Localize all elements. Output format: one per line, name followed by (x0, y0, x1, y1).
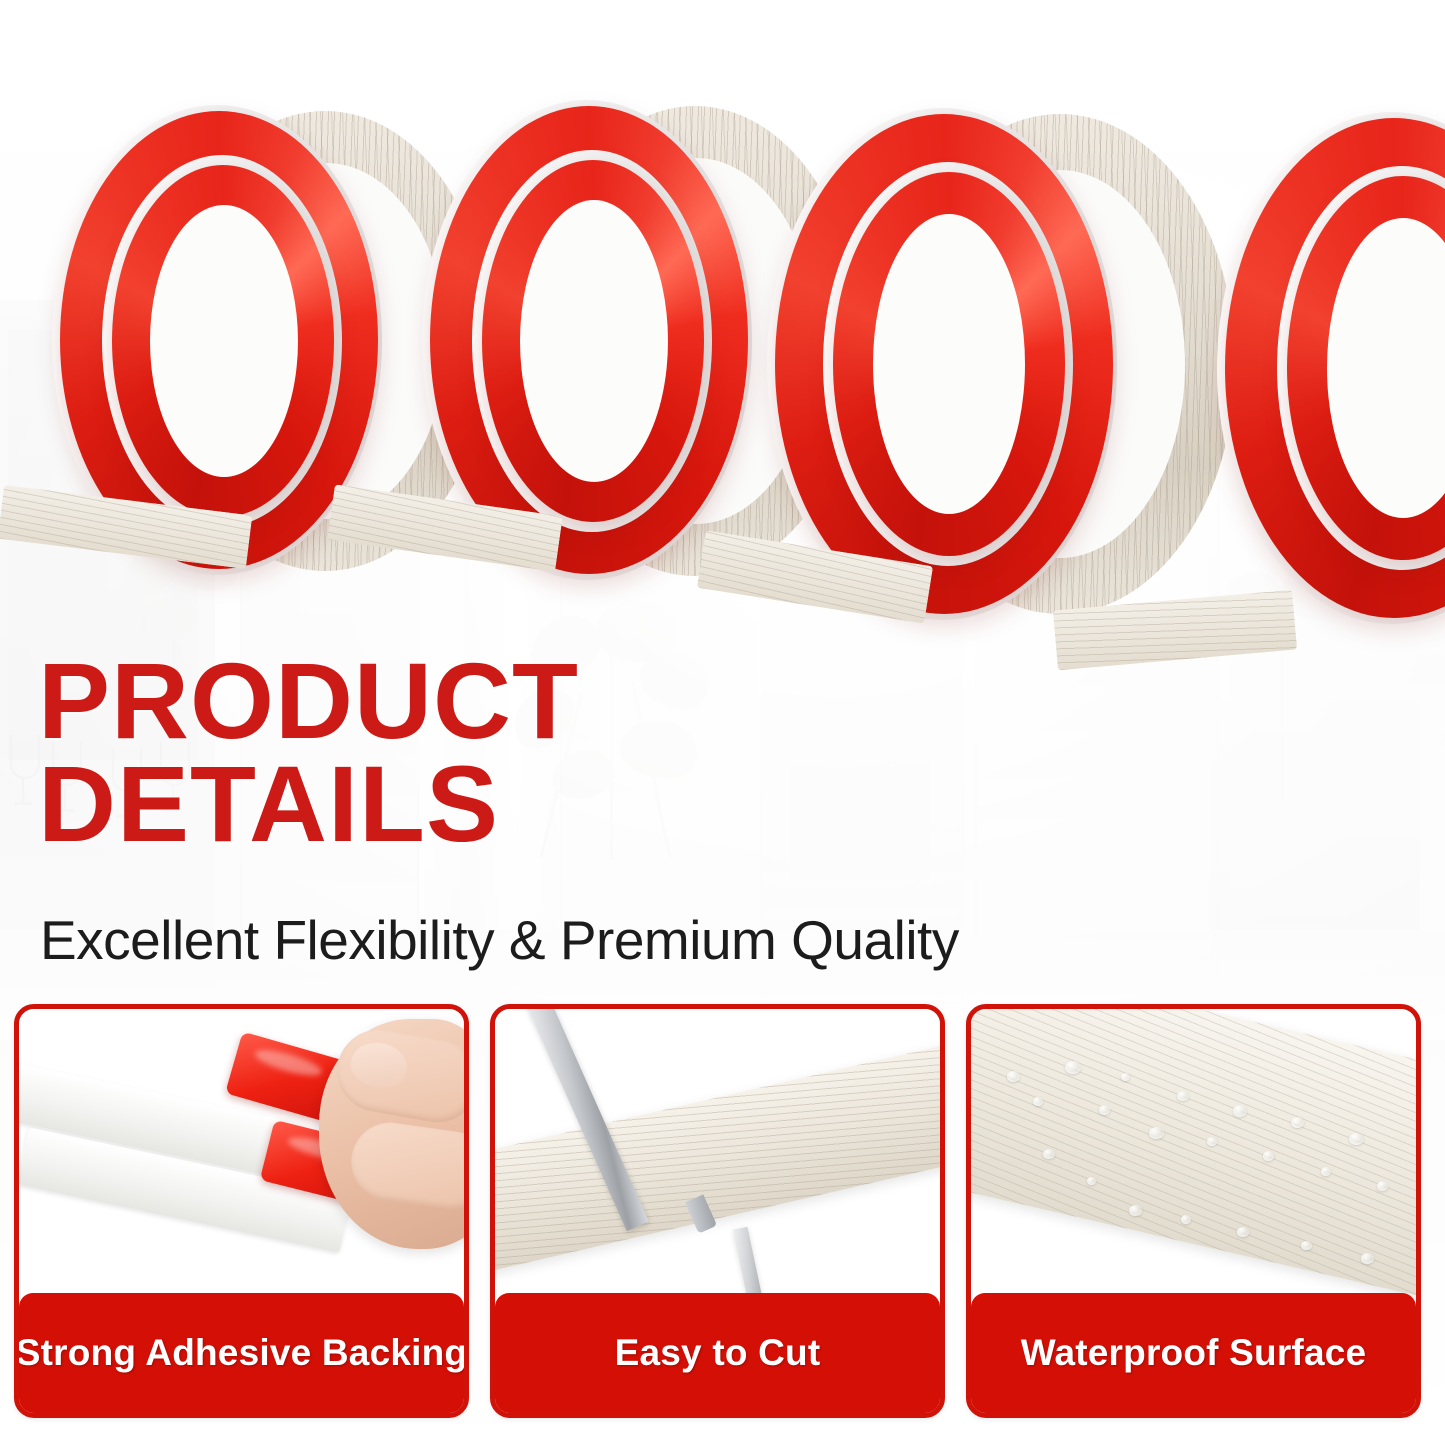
hand-peeling-red-adhesive-backing-photo (19, 1009, 464, 1309)
hero-product-coils (0, 0, 1445, 720)
page-title: PRODUCT DETAILS (38, 650, 579, 855)
feature-card-waterproof[interactable]: Waterproof Surface (966, 1004, 1421, 1418)
feature-cards: Strong Adhesive Backing Easy to Cut (0, 1004, 1445, 1424)
title-line-details: DETAILS (38, 753, 579, 856)
feature-card-label-easy-to-cut: Easy to Cut (495, 1293, 940, 1413)
feature-card-label-adhesive: Strong Adhesive Backing (19, 1293, 464, 1413)
feature-card-easy-to-cut[interactable]: Easy to Cut (490, 1004, 945, 1418)
water-droplets-beading-on-trim-photo (971, 1009, 1416, 1309)
feature-label-text: Easy to Cut (615, 1332, 821, 1374)
scissors-cutting-trim-photo (495, 1009, 940, 1309)
product-details-infographic: PRODUCT DETAILS Excellent Flexibility & … (0, 0, 1445, 1445)
feature-label-text: Strong Adhesive Backing (16, 1332, 467, 1374)
title-line-product: PRODUCT (38, 650, 579, 753)
feature-card-label-waterproof: Waterproof Surface (971, 1293, 1416, 1413)
feature-card-adhesive[interactable]: Strong Adhesive Backing (14, 1004, 469, 1418)
feature-label-text: Waterproof Surface (1021, 1332, 1367, 1374)
page-subtitle: Excellent Flexibility & Premium Quality (40, 908, 959, 972)
